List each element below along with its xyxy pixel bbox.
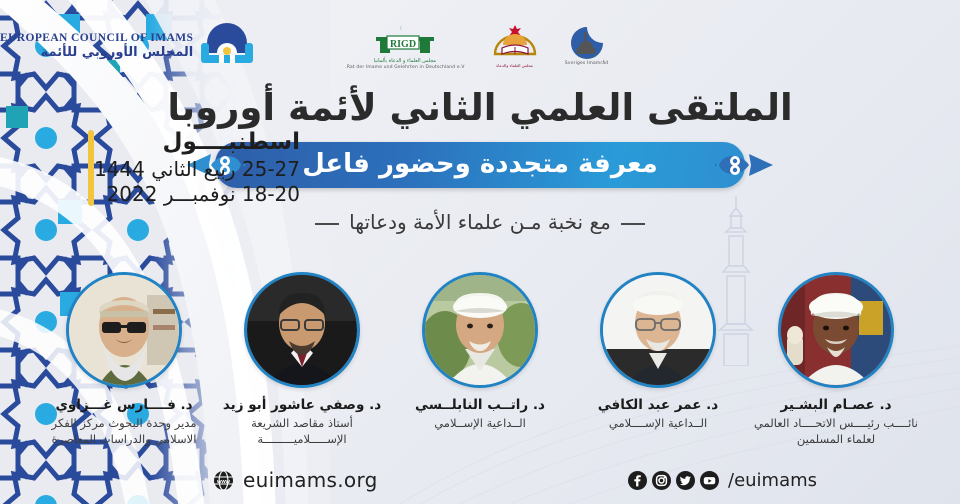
speaker-name: د. فــــارس غـــزاوي xyxy=(55,397,192,413)
mosque-arch-logo-icon xyxy=(201,23,253,69)
speaker-photo-essam-bashir xyxy=(778,272,894,388)
speakers-row: د. فــــارس غـــزاوي مدير وحدة البحوث مر… xyxy=(0,272,960,472)
speaker-name: د. راتــب النابلــسي xyxy=(415,397,545,413)
speaker-card[interactable]: د. عصـام البشـير نائــــب رئيــــس الاتح… xyxy=(747,272,925,447)
social-links: /euimams xyxy=(628,470,817,491)
tagline-row: مع نخبة مـن علماء الأمة ودعاتها xyxy=(0,210,960,234)
ecim-english-name: EUROPEAN COUNCIL OF IMAMS xyxy=(0,32,193,44)
twitter-icon[interactable] xyxy=(676,471,695,490)
event-hijri-date: 25-27 ربيع الثاني 1444 xyxy=(94,157,300,181)
banner-text: معرفة متجددة وحضور فاعل xyxy=(302,149,658,179)
speaker-photo-ratib-nabulsi xyxy=(422,272,538,388)
rigd-german-caption: Rat der Imame und Gelehrten in Deutschla… xyxy=(345,65,464,70)
header-logo-row: EUROPEAN COUNCIL OF IMAMS المجلس الأوروب… xyxy=(0,12,960,80)
speaker-role: الــداعية الإســلامي xyxy=(434,416,526,432)
speaker-role: نائــــب رئيــــس الاتحــــاد العالمي لع… xyxy=(752,416,920,447)
website-link[interactable]: www euimams.org xyxy=(213,468,378,492)
logo-rigd[interactable]: RIGD مجلس العلماء و الدعاة بألمانيا Rat … xyxy=(345,23,464,70)
speaker-role: أستاذ مقاصد الشريعة الإســـــلاميـــــــ… xyxy=(218,416,386,447)
speaker-role: مدير وحدة البحوث مركز الفكر الاسلامي وال… xyxy=(40,416,208,447)
speaker-name: د. عمر عبد الكافي xyxy=(598,397,718,413)
speaker-card[interactable]: د. راتــب النابلــسي الــداعية الإســلام… xyxy=(391,272,569,432)
crescent-mosque-icon xyxy=(565,26,609,60)
dash-left-decoration xyxy=(621,223,645,225)
svg-text:RIGD: RIGD xyxy=(390,39,416,50)
sveriges-imamrad-caption: Sveriges Imamråd xyxy=(565,61,608,66)
event-date-location-block: اسطنبــــول 25-27 ربيع الثاني 1444 18-20… xyxy=(81,130,300,206)
conference-poster: EUROPEAN COUNCIL OF IMAMS المجلس الأوروب… xyxy=(0,0,960,504)
speaker-photo-wasfi-ashour xyxy=(244,272,360,388)
ecim-arabic-name: المجلس الأوروبي للأئمة xyxy=(0,45,193,60)
footer-bar: www euimams.org xyxy=(0,464,960,494)
rigd-gate-icon: RIGD xyxy=(368,23,442,57)
dome-book-icon xyxy=(491,24,539,62)
scholars-council-caption: مجلس العلماء والدعاة xyxy=(496,63,533,68)
speaker-role: الــداعية الإســــلامي xyxy=(609,416,707,432)
ornament-right-icon xyxy=(715,150,773,180)
event-city: اسطنبــــول xyxy=(94,130,300,156)
logo-european-council-of-imams[interactable]: EUROPEAN COUNCIL OF IMAMS المجلس الأوروب… xyxy=(0,23,253,69)
svg-text:www: www xyxy=(216,479,231,485)
speaker-name: د. وصفي عاشور أبو زيد xyxy=(223,397,381,413)
www-globe-icon: www xyxy=(213,470,234,491)
speaker-card[interactable]: د. وصفي عاشور أبو زيد أستاذ مقاصد الشريع… xyxy=(213,272,391,447)
yellow-accent-bar xyxy=(88,130,94,206)
youtube-icon[interactable] xyxy=(700,471,719,490)
instagram-icon[interactable] xyxy=(652,471,671,490)
dash-right-decoration xyxy=(315,223,339,225)
logo-islamic-scholars-council[interactable]: مجلس العلماء والدعاة xyxy=(491,24,539,68)
website-text: euimams.org xyxy=(243,468,378,492)
event-gregorian-date: 18-20 نوفمبـــر 2022 xyxy=(94,182,300,206)
speaker-photo-omar-abdelkafi xyxy=(600,272,716,388)
rigd-arabic-caption: مجلس العلماء و الدعاة بألمانيا xyxy=(374,58,436,64)
speaker-card[interactable]: د. عمر عبد الكافي الــداعية الإســــلامي xyxy=(569,272,747,432)
logo-sveriges-imamrad[interactable]: Sveriges Imamråd xyxy=(565,26,609,66)
speaker-photo-faris-ghazawi xyxy=(66,272,182,388)
social-handle-text: /euimams xyxy=(728,470,817,491)
page-title: الملتقى العلمي الثاني لأئمة أوروبا xyxy=(0,86,960,129)
tagline-text: مع نخبة مـن علماء الأمة ودعاتها xyxy=(349,210,611,234)
speaker-name: د. عصـام البشـير xyxy=(780,397,891,413)
facebook-icon[interactable] xyxy=(628,471,647,490)
speaker-card[interactable]: د. فــــارس غـــزاوي مدير وحدة البحوث مر… xyxy=(35,272,213,447)
